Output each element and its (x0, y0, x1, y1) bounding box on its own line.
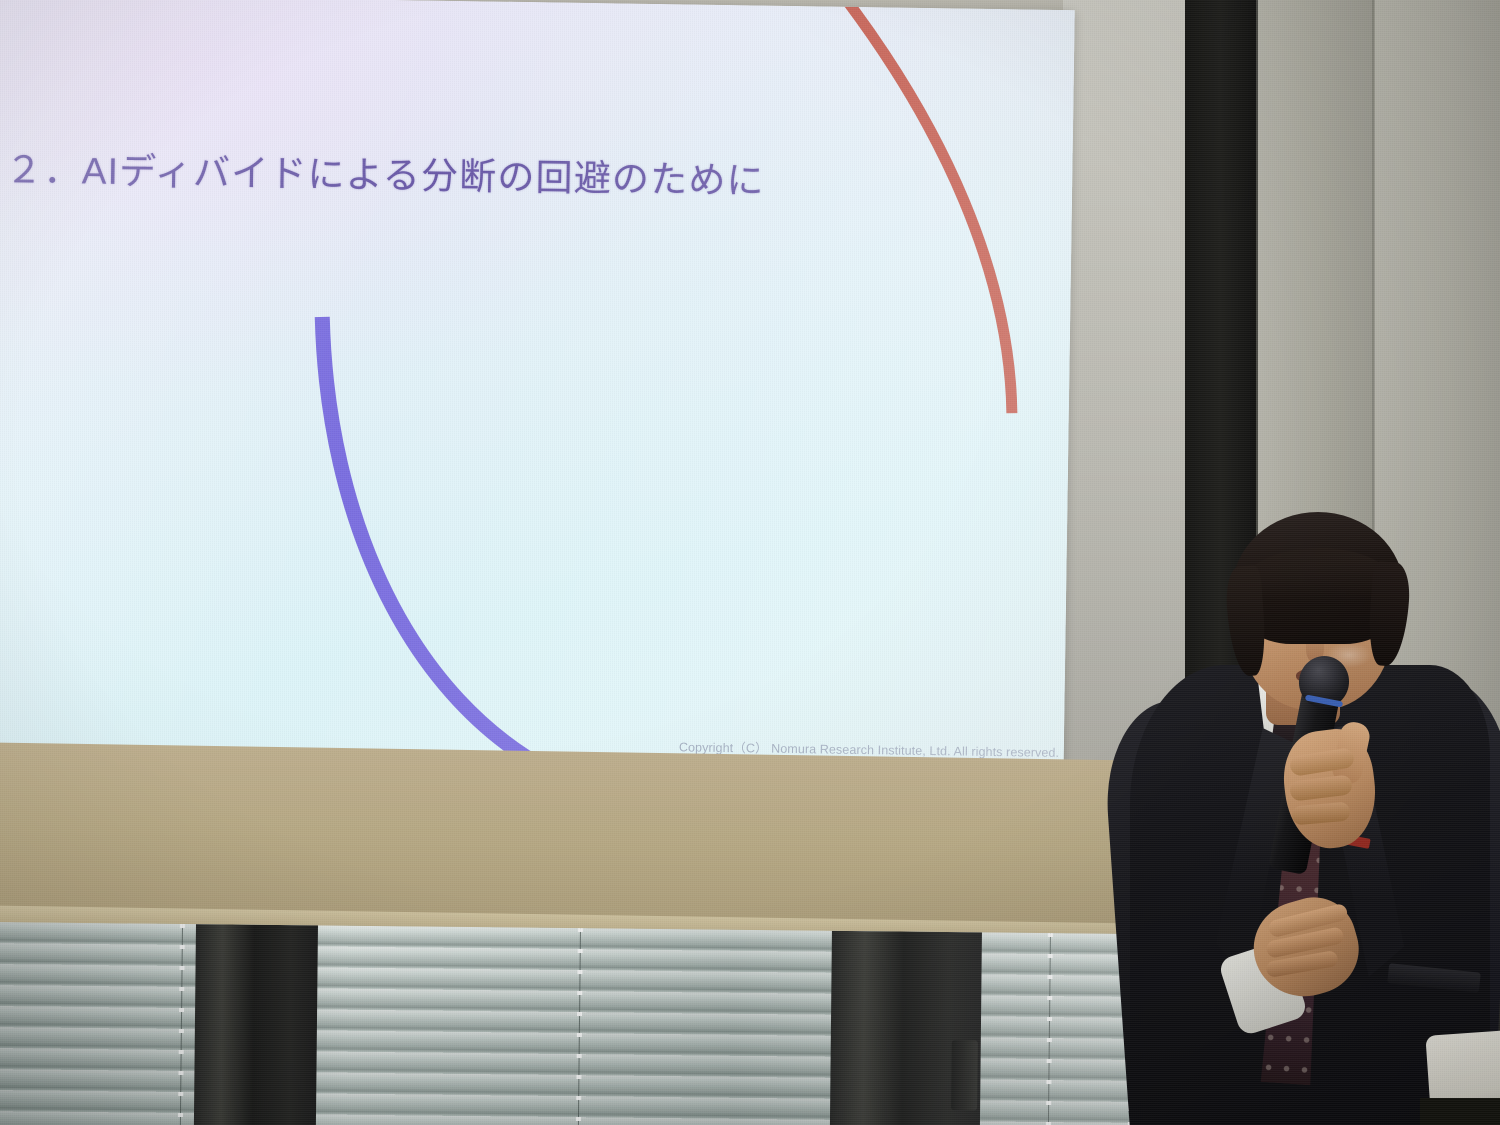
presenter (1120, 470, 1500, 1125)
projection-screen: ２．AIディバイドによる分断の回避のために Copyright（C） Nomur… (0, 0, 1075, 770)
presenter-hair-side-left (1224, 565, 1268, 677)
arc-purple-icon (316, 317, 564, 770)
presentation-photo-scene: ２．AIディバイドによる分断の回避のために Copyright（C） Nomur… (0, 0, 1500, 1125)
lectern-shadow (1420, 1098, 1500, 1125)
slide-decorative-arcs (0, 0, 1075, 770)
arc-red-icon (822, 0, 1018, 413)
blind-shading (0, 922, 1190, 1125)
presenter-hair-side-right (1366, 561, 1411, 667)
window-blinds (0, 922, 1190, 1125)
slide-title: ２．AIディバイドによる分断の回避のために (5, 144, 766, 208)
